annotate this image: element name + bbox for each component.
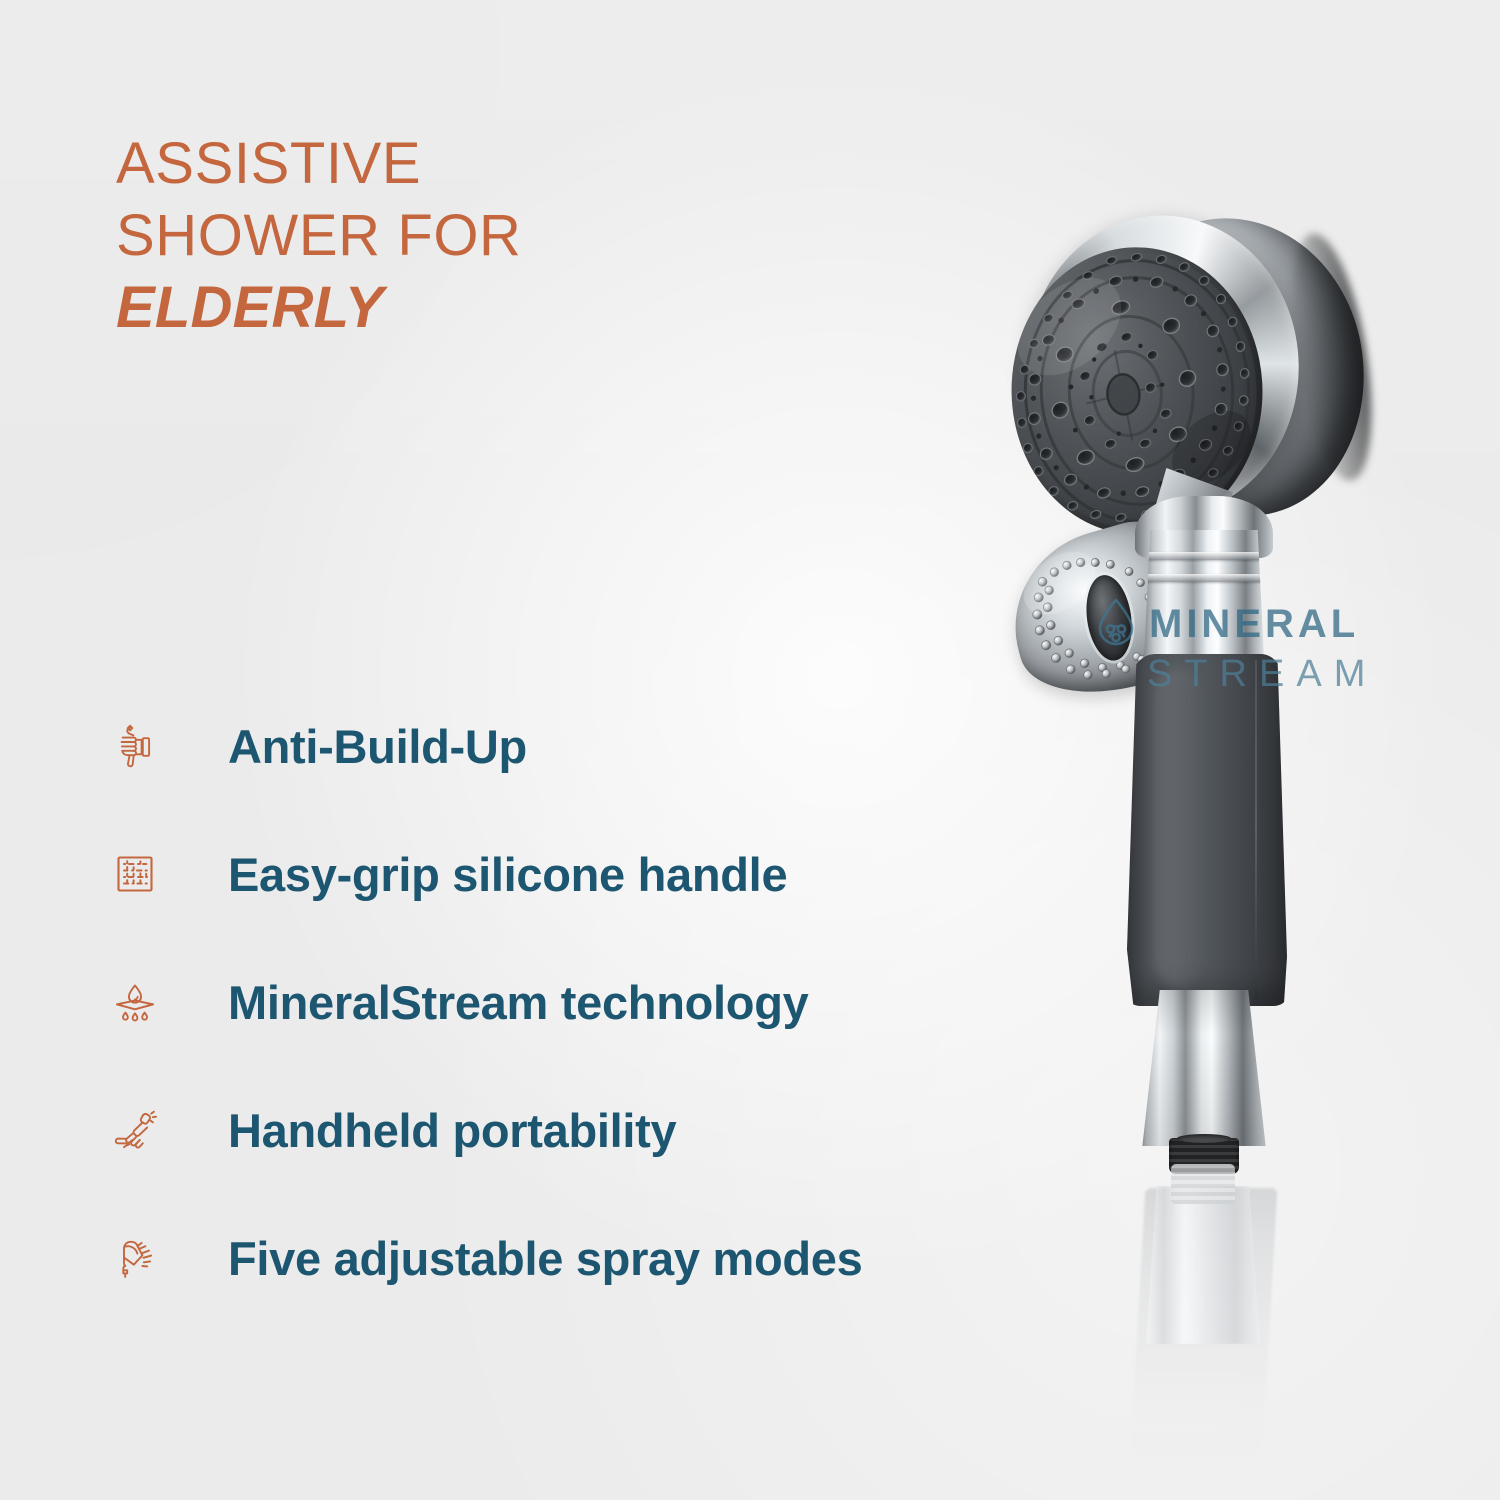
feature-label: Anti-Build-Up <box>228 719 527 774</box>
product-reflection-thread <box>1171 1164 1235 1204</box>
icon-badge <box>98 1220 172 1296</box>
list-item: Handheld portability <box>98 1066 1098 1194</box>
title-accent-word: ELDERLY <box>116 272 736 344</box>
icon-badge <box>98 964 172 1040</box>
handheld-shower-head <box>985 200 1405 1260</box>
product-infographic-poster: ASSISTIVE SHOWER FOR ELDERLY Anti- <box>0 0 1500 1500</box>
showerhead-spray-icon <box>112 1235 158 1281</box>
list-item: MineralStream technology <box>98 938 1098 1066</box>
grip-seam-line <box>1255 660 1257 1000</box>
icon-badge <box>98 1092 172 1168</box>
hand-holding-showerhead-icon <box>112 1107 158 1153</box>
water-filter-droplets-icon <box>112 979 158 1025</box>
list-item: Easy-grip silicone handle <box>98 810 1098 938</box>
title-line-1: ASSISTIVE <box>116 128 736 200</box>
feature-label: Handheld portability <box>228 1103 676 1158</box>
grip-texture-grid-icon <box>113 852 157 896</box>
feature-label: Five adjustable spray modes <box>228 1231 862 1286</box>
feature-list: Anti-Build-Up Easy-grip silicone handle <box>98 682 1098 1322</box>
hand-holding-wrench-icon <box>112 723 158 769</box>
barrel-ring <box>1143 552 1265 560</box>
list-item: Anti-Build-Up <box>98 682 1098 810</box>
page-title: ASSISTIVE SHOWER FOR ELDERLY <box>116 128 736 344</box>
product-reflection-collar <box>1145 1186 1261 1344</box>
lower-chrome-collar <box>1137 990 1271 1146</box>
feature-label: MineralStream technology <box>228 975 808 1030</box>
silicone-grip-handle <box>1127 654 1287 1006</box>
title-line-2: SHOWER FOR <box>116 200 736 272</box>
icon-badge <box>98 708 172 784</box>
list-item: Five adjustable spray modes <box>98 1194 1098 1322</box>
feature-label: Easy-grip silicone handle <box>228 847 787 902</box>
barrel-ring <box>1143 574 1265 582</box>
icon-badge <box>98 836 172 912</box>
